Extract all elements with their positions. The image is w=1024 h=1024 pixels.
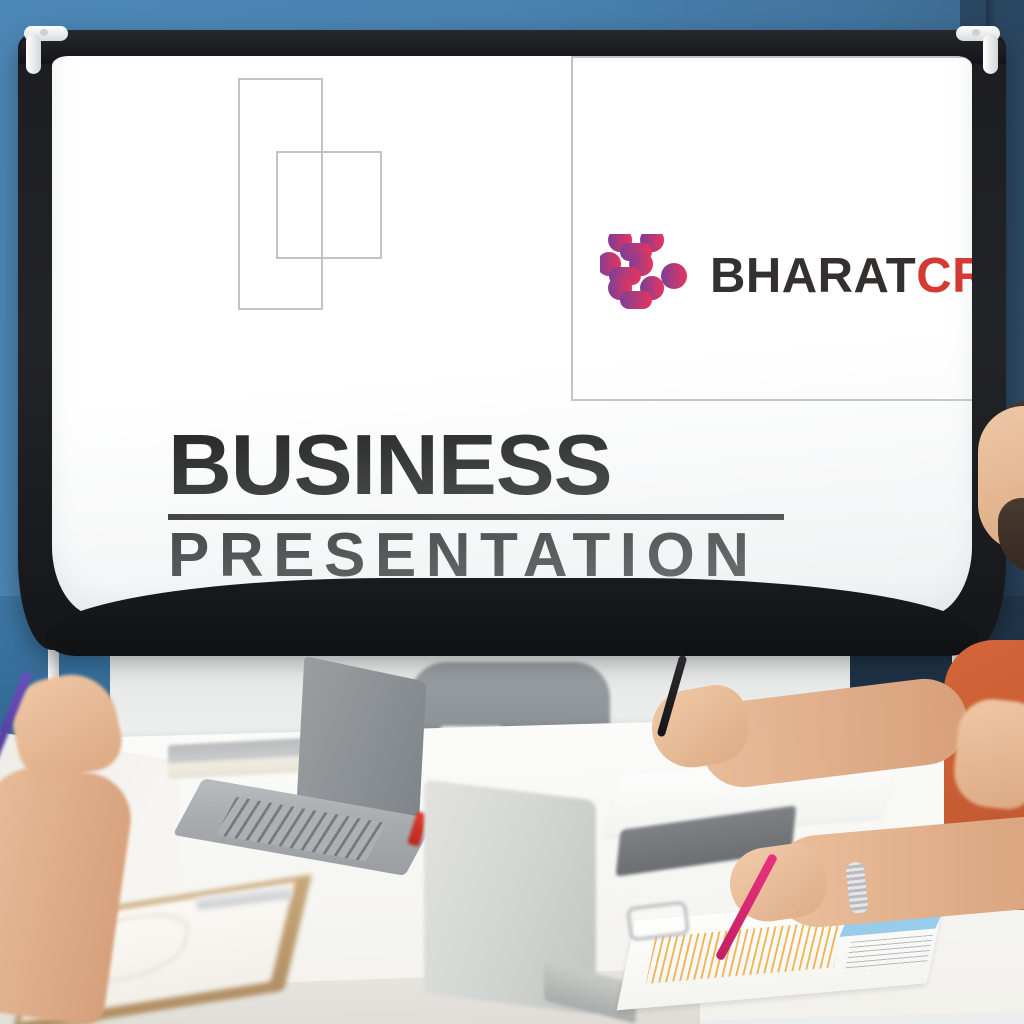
slide-title-main: BUSINESS [168, 426, 896, 507]
projector-screen: BHARATCRM BUSINESS PRESENTATION [18, 30, 1006, 650]
clipboard-ring-binder [626, 900, 690, 941]
title-divider-rule [168, 514, 784, 520]
scene-root: BHARATCRM BUSINESS PRESENTATION [0, 0, 1024, 1024]
decor-rectangle-right [571, 56, 972, 401]
screen-bottom-edge [46, 578, 978, 656]
slide-title-block: BUSINESS PRESENTATION [168, 426, 868, 587]
bharatcrm-molecule-logo [600, 234, 692, 318]
pvc-corner-fitting-right [956, 26, 1000, 72]
laptop-closed-silver [424, 790, 624, 1024]
decor-square-small [276, 151, 382, 259]
brand-logo: BHARATCRM [600, 234, 972, 318]
pvc-corner-fitting-left [24, 26, 68, 72]
logo-brand-text: BHARAT [710, 249, 916, 303]
logo-suffix-text: CRM [916, 249, 972, 303]
laptop-open-silver [188, 668, 428, 868]
slide-canvas: BHARATCRM BUSINESS PRESENTATION [52, 56, 972, 616]
logo-wordmark: BHARATCRM [710, 252, 972, 301]
report-text-lines [844, 935, 932, 973]
